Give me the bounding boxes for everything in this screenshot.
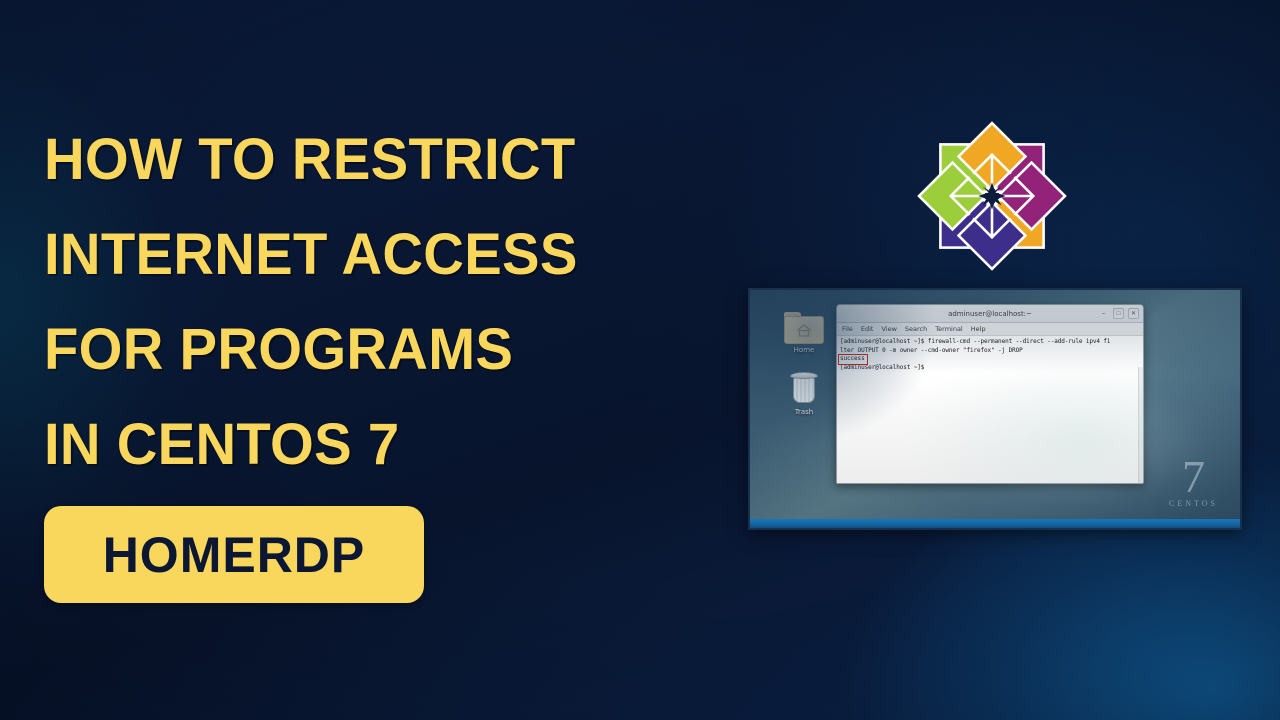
terminal-menubar: File Edit View Search Terminal Help — [837, 323, 1143, 336]
desktop-icon-trash[interactable]: Trash — [777, 372, 831, 416]
terminal-line-prompt: [adminuser@localhost ~]$ — [840, 364, 1140, 373]
centos-logo — [906, 110, 1078, 282]
watermark-number: 7 — [1169, 457, 1218, 497]
terminal-scrollbar[interactable] — [1138, 367, 1143, 483]
desktop-icon-trash-label: Trash — [777, 408, 831, 416]
minimize-icon[interactable]: – — [1098, 308, 1109, 319]
menu-file[interactable]: File — [842, 325, 853, 333]
terminal-line-output: success — [840, 355, 1140, 364]
headline-line-3: FOR PROGRAMS — [44, 302, 675, 397]
menu-help[interactable]: Help — [971, 325, 986, 333]
brand-badge-label: HOMERDP — [103, 526, 366, 584]
terminal-line-command-2: lter OUTPUT 0 -m owner --cmd-owner "fire… — [840, 347, 1140, 356]
success-text: success — [840, 355, 865, 362]
window-controls: – □ ✕ — [1098, 308, 1139, 319]
desktop-icon-home[interactable]: Home — [777, 312, 831, 354]
terminal-window[interactable]: adminuser@localhost:~ – □ ✕ File Edit Vi… — [836, 304, 1144, 484]
centos-watermark: 7 CENTOS — [1169, 457, 1218, 508]
terminal-output[interactable]: [adminuser@localhost ~]$ firewall-cmd --… — [837, 336, 1143, 483]
menu-terminal[interactable]: Terminal — [935, 325, 962, 333]
terminal-line-command-1: [adminuser@localhost ~]$ firewall-cmd --… — [840, 338, 1140, 347]
menu-view[interactable]: View — [881, 325, 896, 333]
headline-block: HOW TO RESTRICT INTERNET ACCESS FOR PROG… — [44, 112, 694, 492]
trash-icon — [789, 372, 819, 406]
menu-edit[interactable]: Edit — [861, 325, 874, 333]
menu-search[interactable]: Search — [905, 325, 927, 333]
house-icon — [796, 324, 812, 337]
desktop-icon-home-label: Home — [777, 346, 831, 354]
centos-desktop-screenshot: Home Trash adminuser@localhost:~ – □ ✕ — [748, 288, 1242, 530]
desktop-taskbar — [750, 519, 1240, 528]
folder-icon — [784, 312, 824, 344]
headline-line-2: INTERNET ACCESS — [44, 207, 675, 302]
terminal-titlebar[interactable]: adminuser@localhost:~ – □ ✕ — [837, 305, 1143, 323]
maximize-icon[interactable]: □ — [1113, 308, 1124, 319]
headline-line-4: IN CENTOS 7 — [44, 397, 675, 492]
watermark-label: CENTOS — [1169, 499, 1218, 508]
success-highlight: success — [840, 355, 865, 364]
brand-badge: HOMERDP — [44, 506, 424, 603]
close-icon[interactable]: ✕ — [1128, 308, 1139, 319]
headline-line-1: HOW TO RESTRICT — [44, 112, 675, 207]
